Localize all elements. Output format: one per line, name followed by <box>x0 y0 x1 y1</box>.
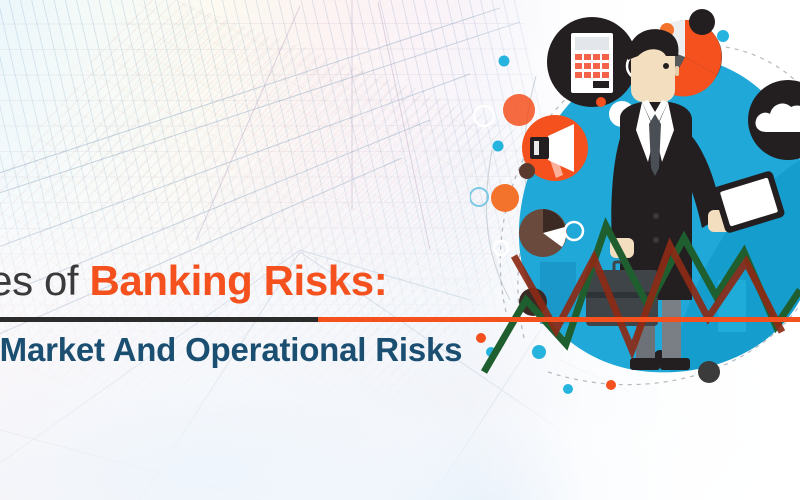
banner-hero: urces of Banking Risks: dit, Market And … <box>0 0 800 500</box>
divider-orange-segment <box>318 317 800 322</box>
business-analytics-illustration <box>470 0 800 440</box>
divider-dark-segment <box>0 317 322 322</box>
page-title: urces of Banking Risks: <box>0 255 800 307</box>
calculator-icon <box>547 17 637 107</box>
page-subtitle: dit, Market And Operational Risks <box>0 327 462 373</box>
headline-plain-text: urces of <box>0 257 89 304</box>
title-block: urces of Banking Risks: dit, Market And … <box>0 255 800 307</box>
title-divider-rule <box>0 317 800 322</box>
pie-chart-small-icon <box>519 209 567 257</box>
headline-accent-text: Banking Risks: <box>89 257 387 304</box>
